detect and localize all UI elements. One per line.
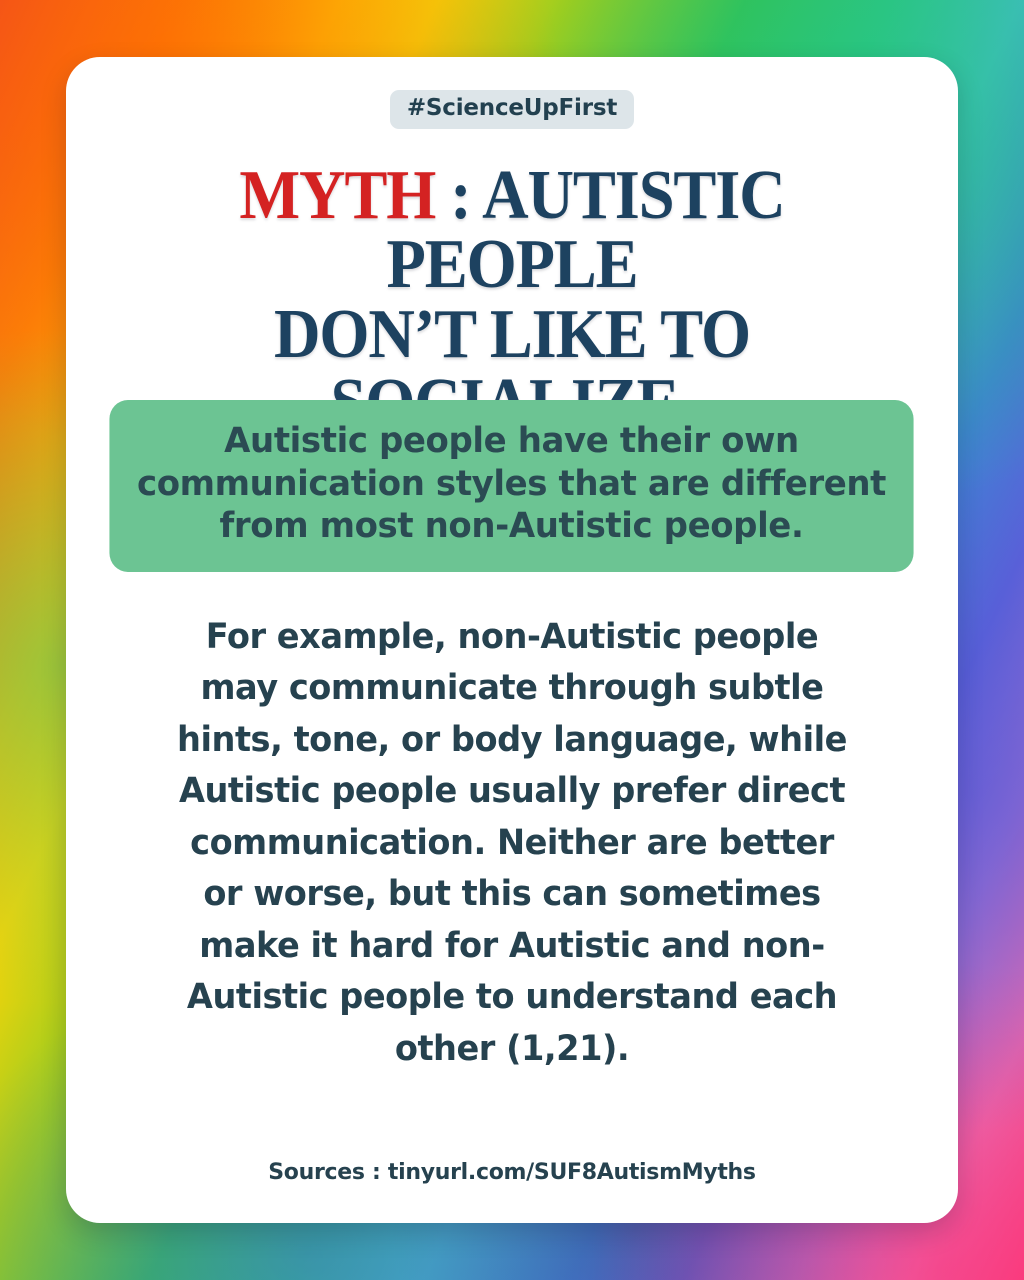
content-card: #ScienceUpFirst MYTH : AUTISTIC PEOPLE D… bbox=[66, 57, 958, 1223]
infographic-poster: #ScienceUpFirst MYTH : AUTISTIC PEOPLE D… bbox=[0, 0, 1024, 1280]
myth-label: MYTH bbox=[239, 157, 435, 234]
fact-callout-box: Autistic people have their own communica… bbox=[109, 400, 913, 572]
explanation-paragraph: For example, non-Autistic people may com… bbox=[176, 612, 848, 1075]
sources-line: Sources : tinyurl.com/SUF8AutismMyths bbox=[66, 1160, 958, 1185]
brand-badge-row: #ScienceUpFirst bbox=[66, 90, 958, 129]
headline-separator: : bbox=[435, 157, 482, 234]
brand-hashtag-badge: #ScienceUpFirst bbox=[390, 90, 634, 129]
page-title: MYTH : AUTISTIC PEOPLE DON’T LIKE TO SOC… bbox=[126, 161, 899, 438]
